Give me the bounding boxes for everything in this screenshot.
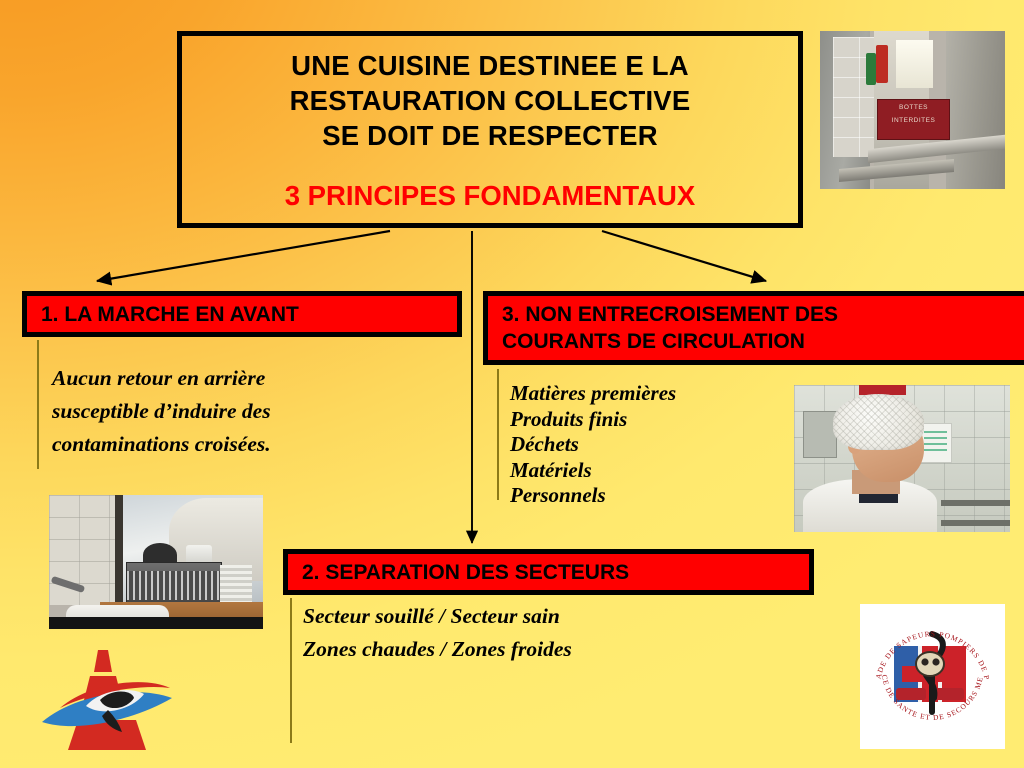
arrow-to-principle-1: [97, 231, 390, 281]
title-line-1: UNE CUISINE DESTINEE E LA: [291, 48, 689, 83]
arrow-to-principle-3: [602, 231, 766, 281]
principle-1-body-line-3: contaminations croisées.: [52, 428, 382, 461]
title-subtitle: 3 PRINCIPES FONDAMENTAUX: [285, 179, 696, 213]
principle-2-body-line-2: Zones chaudes / Zones froides: [303, 633, 723, 666]
principle-3-body-line-2: Produits finis: [510, 407, 800, 433]
principle-3-heading-line-2: COURANTS DE CIRCULATION: [488, 328, 1024, 355]
principle-1-body-line-2: susceptible d’induire des: [52, 395, 382, 428]
principle-1-header: 1. LA MARCHE EN AVANT: [22, 291, 462, 337]
principle-3-body-line-1: Matières premières: [510, 381, 800, 407]
principle-3-header: 3. NON ENTRECROISEMENT DES COURANTS DE C…: [483, 291, 1024, 365]
principle-2-body: Secteur souillé / Secteur sain Zones cha…: [303, 600, 723, 666]
sign-text-line-2: INTERDITES: [878, 116, 948, 126]
principle-1-body-line-1: Aucun retour en arrière: [52, 362, 382, 395]
principle-3-body-line-3: Déchets: [510, 432, 800, 458]
principle-1-heading-line-1: 1. LA MARCHE EN AVANT: [27, 301, 457, 328]
principle-3-body: Matières premières Produits finis Déchet…: [510, 381, 800, 509]
principle-1-body: Aucun retour en arrière susceptible d’in…: [52, 362, 382, 461]
principle-3-body-line-4: Matériels: [510, 458, 800, 484]
principle-2-header: 2. SEPARATION DES SECTEURS: [283, 549, 814, 595]
principle-2-body-line-1: Secteur souillé / Secteur sain: [303, 600, 723, 633]
title-line-2: RESTAURATION COLLECTIVE: [290, 83, 691, 118]
bspp-logo: BRIGADE DE SAPEURS POMPIERS DE PARIS SER…: [860, 604, 1005, 749]
principle-1-connector-rule: [37, 340, 39, 469]
slide-canvas: UNE CUISINE DESTINEE E LA RESTAURATION C…: [0, 0, 1024, 768]
principle-2-heading-line-1: 2. SEPARATION DES SECTEURS: [288, 559, 809, 586]
principle-2-connector-rule: [290, 598, 292, 743]
eiffel-tower-helmet-logo: [38, 648, 176, 753]
photo-kitchen-worker: [794, 385, 1010, 532]
principle-3-connector-rule: [497, 369, 499, 500]
photo-bottes-interdites: BOTTES INTERDITES: [820, 31, 1005, 189]
bottes-interdites-sign: BOTTES INTERDITES: [877, 99, 949, 141]
principle-3-body-line-5: Personnels: [510, 483, 800, 509]
title-box: UNE CUISINE DESTINEE E LA RESTAURATION C…: [177, 31, 803, 228]
sign-text-line-1: BOTTES: [878, 103, 948, 113]
title-line-3: SE DOIT DE RESPECTER: [322, 118, 658, 153]
photo-kitchen-sink: [49, 495, 263, 629]
principle-3-heading-line-1: 3. NON ENTRECROISEMENT DES: [488, 301, 1024, 328]
